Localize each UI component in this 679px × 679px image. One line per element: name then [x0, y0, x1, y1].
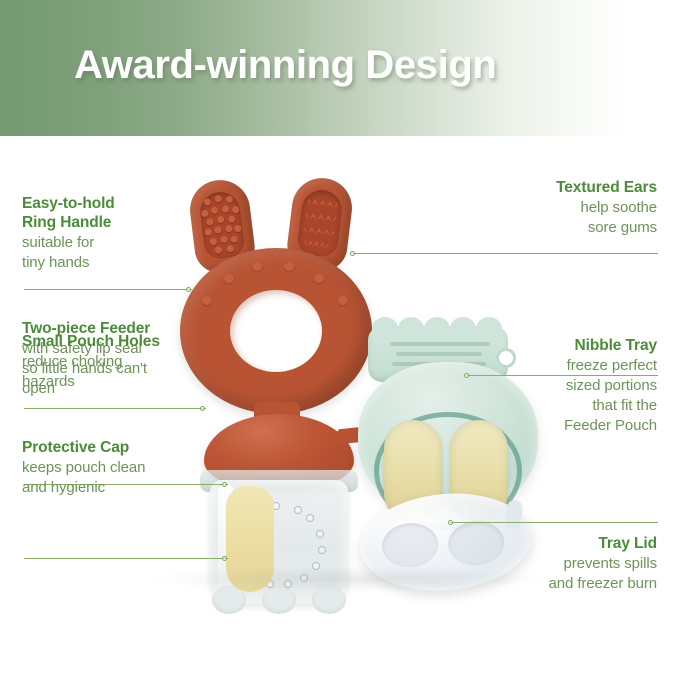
callout-protective-cap-subtitle: keeps pouch clean and hygienic	[22, 458, 222, 498]
leader-line-textured-ears	[352, 253, 658, 254]
leader-line-protective-cap	[24, 558, 228, 559]
leader-dot-textured-ears	[350, 251, 355, 256]
callout-ring-handle-title: Easy-to-hold Ring Handle	[22, 194, 212, 232]
header-banner: Award-winning Design	[0, 0, 679, 136]
callout-tray-lid-title: Tray Lid	[457, 534, 657, 553]
ear-right-texture	[296, 188, 344, 258]
callout-protective-cap: Protective Cap keeps pouch clean and hyg…	[22, 438, 222, 498]
callout-tray-lid-subtitle: prevents spills and freezer burn	[457, 554, 657, 594]
callout-nibble-tray-title: Nibble Tray	[457, 336, 657, 355]
callout-pouch-holes-subtitle: reduce choking hazards	[22, 352, 222, 392]
page-title: Award-winning Design	[74, 43, 496, 88]
leader-line-tray-lid	[450, 522, 658, 523]
leader-dot-protective-cap	[222, 556, 227, 561]
leader-line-ring-handle	[24, 289, 192, 290]
callout-ring-handle: Easy-to-hold Ring Handle suitable for ti…	[22, 194, 212, 273]
leader-line-two-piece-feeder	[24, 408, 206, 409]
callout-textured-ears-title: Textured Ears	[457, 178, 657, 197]
ring-handle-opening	[230, 290, 322, 372]
callout-ring-handle-subtitle: suitable for tiny hands	[22, 233, 212, 273]
callout-nibble-tray: Nibble Tray freeze perfect sized portion…	[457, 336, 657, 436]
callout-protective-cap-title: Protective Cap	[22, 438, 222, 457]
leader-dot-tray-lid	[448, 520, 453, 525]
lid-grip-tab	[504, 499, 524, 531]
leader-dot-two-piece-feeder	[200, 406, 205, 411]
callout-pouch-holes: Small Pouch Holes reduce choking hazards	[22, 332, 222, 392]
callout-pouch-holes-title: Small Pouch Holes	[22, 332, 222, 351]
leader-dot-small-pouch-holes	[222, 482, 227, 487]
callout-textured-ears-subtitle: help soothe sore gums	[457, 198, 657, 238]
callout-nibble-tray-subtitle: freeze perfect sized portions that fit t…	[457, 356, 657, 436]
product-diagram-stage: haakaa®	[0, 136, 679, 679]
callout-textured-ears: Textured Ears help soothe sore gums	[457, 178, 657, 238]
leader-dot-ring-handle	[186, 287, 191, 292]
callout-tray-lid: Tray Lid prevents spills and freezer bur…	[457, 534, 657, 594]
